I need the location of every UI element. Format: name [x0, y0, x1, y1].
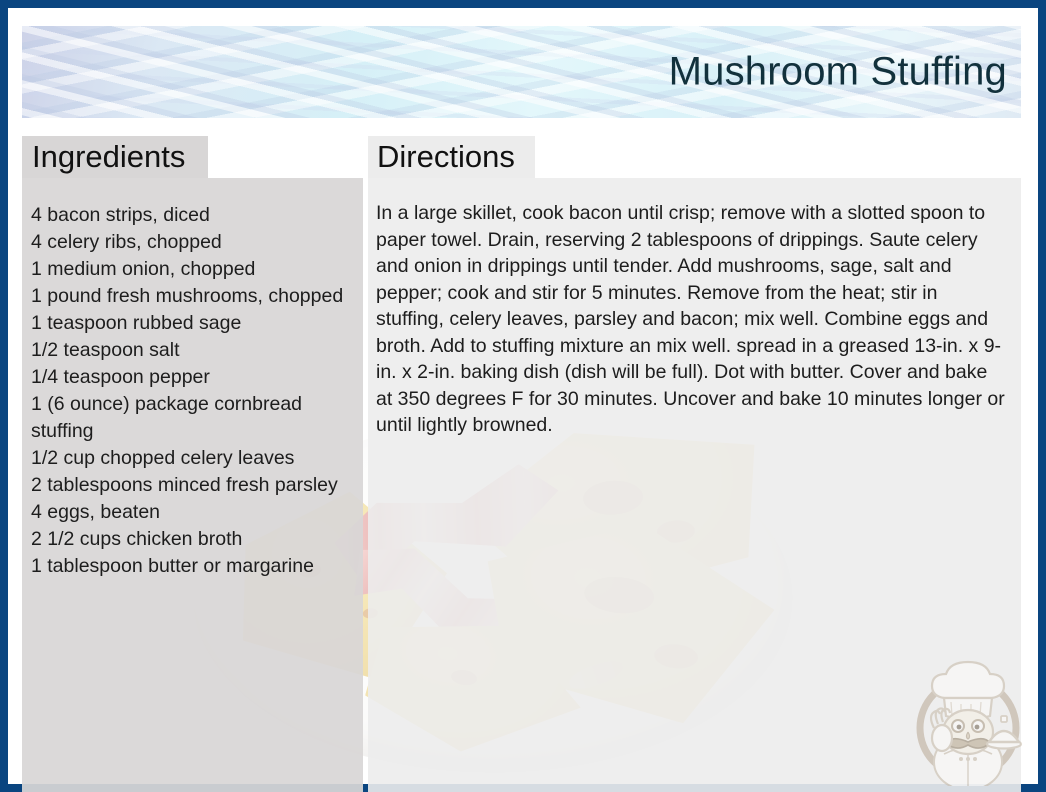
ingredient-item: 1 tablespoon butter or margarine — [31, 553, 361, 580]
directions-heading: Directions — [377, 139, 515, 175]
ingredient-item: 1/4 teaspoon pepper — [31, 364, 361, 391]
ingredient-item: 1 pound fresh mushrooms, chopped — [31, 283, 361, 310]
ingredients-heading-tab: Ingredients — [22, 136, 208, 178]
ingredient-item: 4 celery ribs, chopped — [31, 229, 361, 256]
recipe-card-frame: Mushroom Stuffing — [0, 0, 1046, 792]
ingredient-item: 1 teaspoon rubbed sage — [31, 310, 361, 337]
ingredient-item: 2 1/2 cups chicken broth — [31, 526, 361, 553]
directions-body-text: In a large skillet, cook bacon until cri… — [376, 200, 1006, 439]
ingredient-item: 1/2 teaspoon salt — [31, 337, 361, 364]
ingredients-panel: 4 bacon strips, diced4 celery ribs, chop… — [22, 178, 363, 792]
ingredient-item: 1/2 cup chopped celery leaves — [31, 445, 361, 472]
header-banner: Mushroom Stuffing — [22, 26, 1021, 118]
ingredient-item: 2 tablespoons minced fresh parsley — [31, 472, 361, 499]
recipe-card-inner: Mushroom Stuffing — [8, 8, 1038, 784]
ingredients-heading: Ingredients — [32, 139, 185, 175]
ingredients-list: 4 bacon strips, diced4 celery ribs, chop… — [31, 202, 361, 580]
ingredient-item: 4 bacon strips, diced — [31, 202, 361, 229]
ingredient-item: 4 eggs, beaten — [31, 499, 361, 526]
directions-panel: In a large skillet, cook bacon until cri… — [368, 178, 1021, 792]
ingredient-item: 1 medium onion, chopped — [31, 256, 361, 283]
directions-heading-tab: Directions — [368, 136, 535, 178]
ingredient-item: 1 (6 ounce) package cornbread stuffing — [31, 391, 361, 445]
page-title: Mushroom Stuffing — [669, 50, 1007, 95]
